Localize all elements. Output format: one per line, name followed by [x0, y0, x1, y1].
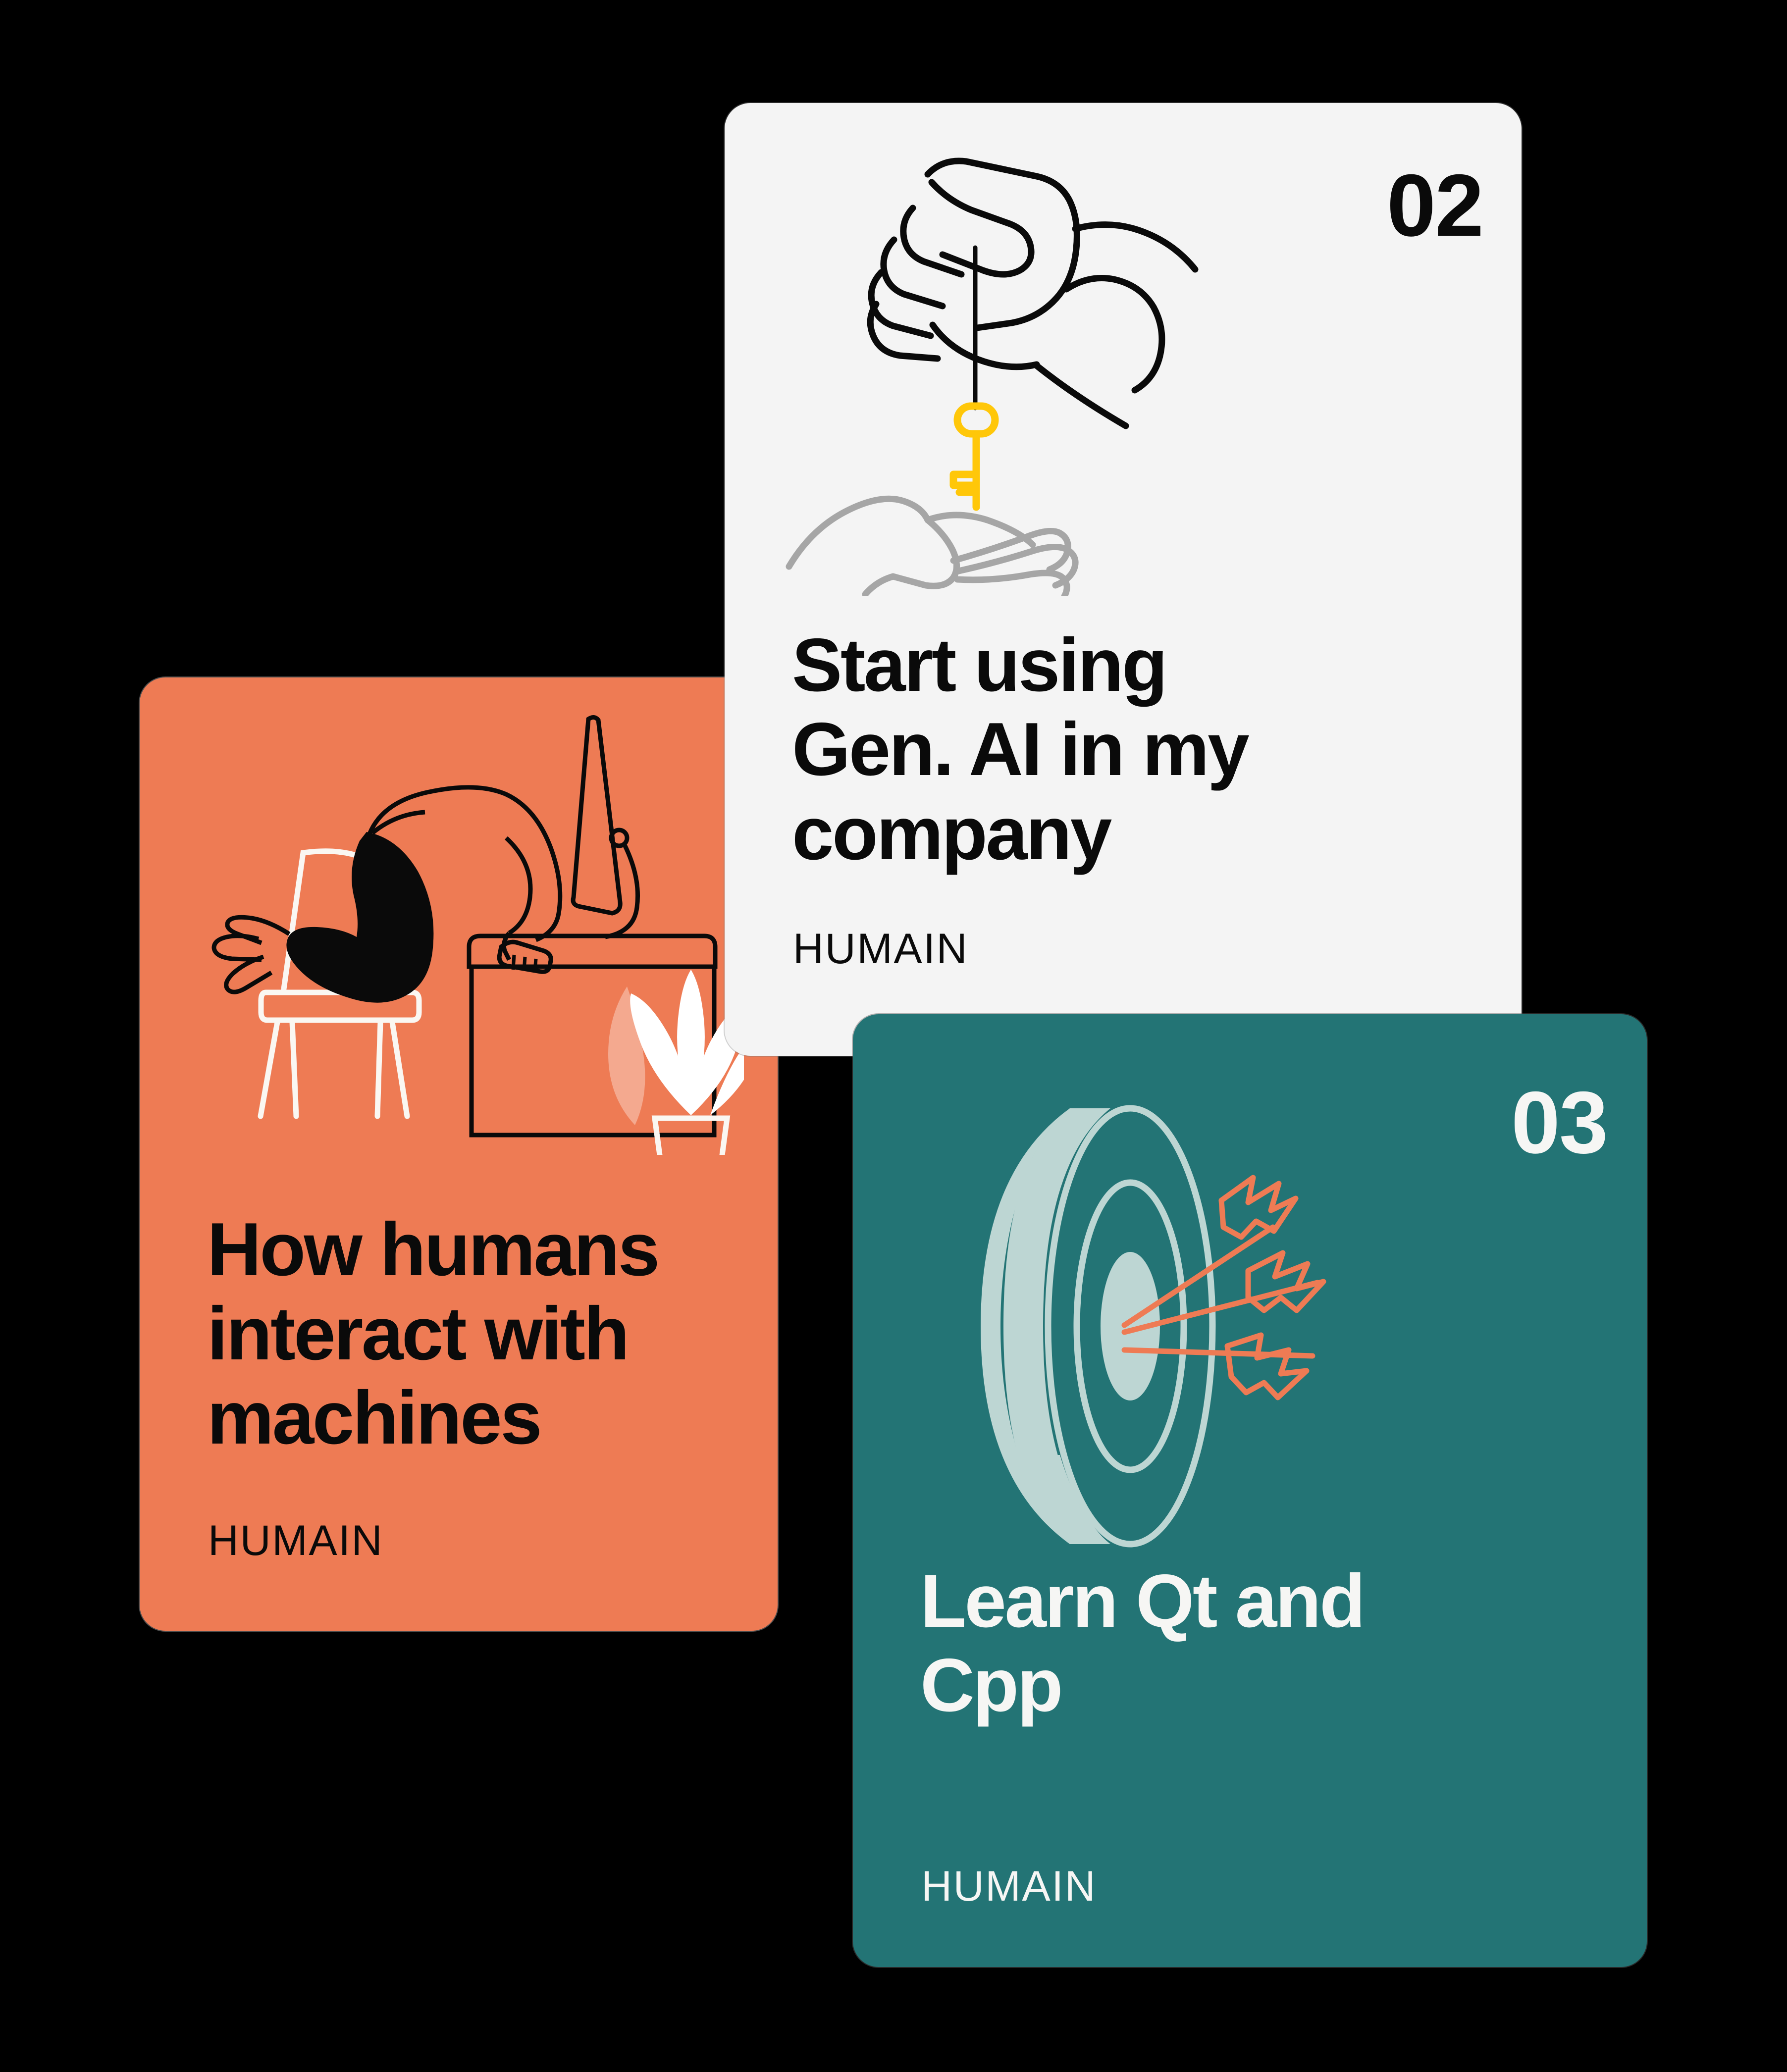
person-slumped-at-desk-illustration: [159, 689, 744, 1155]
target-with-three-darts-illustration: [906, 1079, 1530, 1574]
card-teal-body: 03: [853, 1014, 1647, 1967]
card-stack-canvas: How humans interact with machines HUMAIN…: [0, 0, 1787, 2072]
card-white-body: 02: [725, 103, 1522, 1056]
card-start-using-gen-ai[interactable]: 02: [725, 103, 1522, 1056]
card-orange-body: How humans interact with machines HUMAIN: [140, 677, 778, 1631]
card-learn-qt-and-cpp[interactable]: 03: [853, 1014, 1647, 1967]
card-white-number: 02: [1387, 161, 1483, 250]
card-teal-brand-label: HUMAIN: [921, 1865, 1097, 1908]
card-how-humans-interact[interactable]: How humans interact with machines HUMAIN: [140, 677, 778, 1631]
card-orange-title: How humans interact with machines: [207, 1207, 757, 1460]
card-orange-brand-label: HUMAIN: [208, 1519, 383, 1562]
card-white-brand-label: HUMAIN: [793, 928, 968, 970]
card-teal-title: Learn Qt and Cpp: [920, 1559, 1564, 1727]
hand-dropping-key-into-open-hand-illustration: [779, 131, 1274, 596]
card-white-title: Start using Gen. AI in my company: [792, 623, 1461, 876]
